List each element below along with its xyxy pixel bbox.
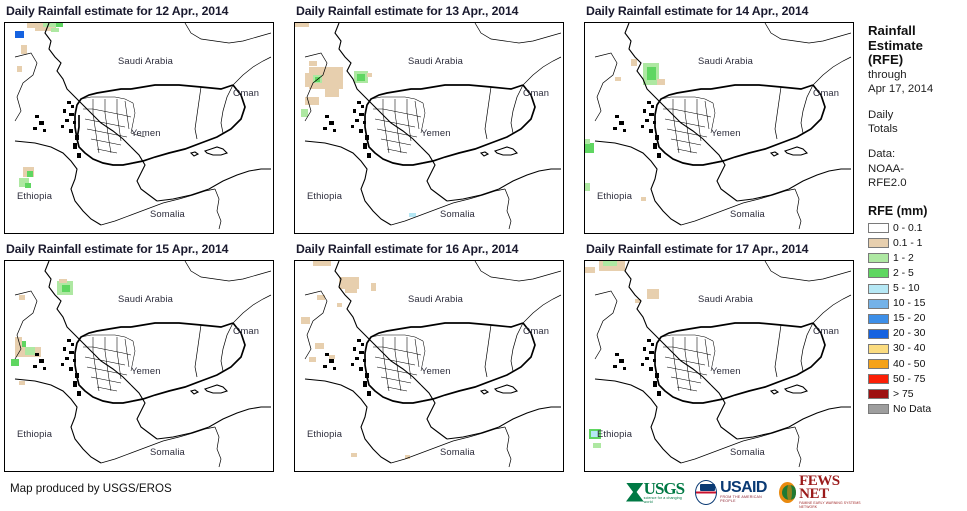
legend-swatch bbox=[868, 329, 889, 339]
fewsnet-logo[interactable]: FEWS NET FAMINE EARLY WARNING SYSTEMS NE… bbox=[779, 478, 864, 506]
sidebar-data-source-line-1: NOAA- bbox=[868, 162, 967, 176]
usgs-wordmark: USGS bbox=[644, 481, 687, 496]
country-label-yemen: Yemen bbox=[131, 365, 161, 376]
map-panel-13-apr: Daily Rainfall estimate for 13 Apr., 201… bbox=[290, 2, 568, 240]
legend-row: 2 - 5 bbox=[868, 266, 967, 281]
agency-logos: USGS science for a changing world USAID … bbox=[626, 477, 864, 507]
sidebar-title-line-2: Estimate bbox=[868, 39, 967, 54]
usgs-logo[interactable]: USGS science for a changing world bbox=[626, 478, 686, 506]
country-label-saudi-arabia: Saudi Arabia bbox=[698, 293, 753, 304]
fewsnet-globe-icon bbox=[779, 482, 796, 503]
legend-label: 0.1 - 1 bbox=[893, 238, 922, 249]
map-layers: Saudi Arabia Oman Yemen Ethiopia Somalia bbox=[295, 261, 563, 471]
usaid-wordmark: USAID bbox=[720, 481, 770, 495]
panel-title: Daily Rainfall estimate for 14 Apr., 201… bbox=[580, 2, 858, 22]
map-panel-15-apr: Daily Rainfall estimate for 15 Apr., 201… bbox=[0, 240, 278, 478]
usgs-mark-icon bbox=[626, 483, 644, 502]
country-label-ethiopia: Ethiopia bbox=[597, 190, 632, 201]
map-panel-14-apr: Daily Rainfall estimate for 14 Apr., 201… bbox=[580, 2, 858, 240]
legend-label: 10 - 15 bbox=[893, 298, 925, 309]
country-label-somalia: Somalia bbox=[730, 208, 765, 219]
legend-label: 2 - 5 bbox=[893, 268, 914, 279]
country-label-yemen: Yemen bbox=[711, 365, 741, 376]
usaid-logo[interactable]: USAID FROM THE AMERICAN PEOPLE bbox=[695, 478, 770, 506]
map-layers: Saudi Arabia Oman Yemen Ethiopia Somalia bbox=[585, 261, 853, 471]
country-label-oman: Oman bbox=[233, 87, 259, 98]
country-label-saudi-arabia: Saudi Arabia bbox=[118, 55, 173, 66]
country-label-ethiopia: Ethiopia bbox=[307, 428, 342, 439]
country-label-ethiopia: Ethiopia bbox=[17, 428, 52, 439]
country-label-oman: Oman bbox=[813, 87, 839, 98]
legend-row: 0.1 - 1 bbox=[868, 236, 967, 251]
country-label-somalia: Somalia bbox=[440, 208, 475, 219]
country-label-somalia: Somalia bbox=[440, 446, 475, 457]
panel-title: Daily Rainfall estimate for 15 Apr., 201… bbox=[0, 240, 278, 260]
legend-swatch bbox=[868, 268, 889, 278]
sidebar-title-line-1: Rainfall bbox=[868, 0, 967, 39]
country-label-yemen: Yemen bbox=[131, 127, 161, 138]
legend-swatch bbox=[868, 284, 889, 294]
map-canvas[interactable]: Saudi Arabia Oman Yemen Ethiopia Somalia bbox=[4, 260, 274, 472]
sidebar-through-label: through bbox=[868, 68, 967, 82]
sidebar-title-line-3: (RFE) bbox=[868, 53, 967, 68]
country-label-yemen: Yemen bbox=[421, 127, 451, 138]
legend-label: 5 - 10 bbox=[893, 283, 920, 294]
country-label-saudi-arabia: Saudi Arabia bbox=[698, 55, 753, 66]
country-label-yemen: Yemen bbox=[711, 127, 741, 138]
sidebar-totals-line-1: Daily bbox=[868, 108, 967, 122]
map-canvas[interactable]: Saudi Arabia Oman Yemen Ethiopia Somalia bbox=[584, 22, 854, 234]
legend-swatch bbox=[868, 253, 889, 263]
map-layers: Saudi Arabia Oman Yemen Ethiopia Somalia bbox=[295, 23, 563, 233]
legend-title: RFE (mm) bbox=[868, 204, 967, 218]
country-label-ethiopia: Ethiopia bbox=[17, 190, 52, 201]
panel-title: Daily Rainfall estimate for 17 Apr., 201… bbox=[580, 240, 858, 260]
country-label-somalia: Somalia bbox=[150, 208, 185, 219]
legend-row: > 75 bbox=[868, 387, 967, 402]
map-canvas[interactable]: Saudi Arabia Oman Yemen Ethiopia Somalia bbox=[294, 260, 564, 472]
legend: 0 - 0.10.1 - 11 - 22 - 55 - 1010 - 1515 … bbox=[868, 221, 967, 417]
panel-title: Daily Rainfall estimate for 13 Apr., 201… bbox=[290, 2, 568, 22]
legend-row: 20 - 30 bbox=[868, 326, 967, 341]
legend-label: 50 - 75 bbox=[893, 374, 925, 385]
map-canvas[interactable]: Saudi Arabia Oman Yemen Ethiopia Somalia bbox=[294, 22, 564, 234]
legend-row: 50 - 75 bbox=[868, 372, 967, 387]
country-label-somalia: Somalia bbox=[730, 446, 765, 457]
usaid-seal-icon bbox=[695, 480, 717, 505]
sidebar-totals-line-2: Totals bbox=[868, 122, 967, 136]
usaid-tagline: FROM THE AMERICAN PEOPLE bbox=[720, 495, 770, 503]
country-label-oman: Oman bbox=[523, 87, 549, 98]
legend-swatch bbox=[868, 404, 889, 414]
legend-row: 1 - 2 bbox=[868, 251, 967, 266]
country-label-oman: Oman bbox=[233, 325, 259, 336]
map-panel-17-apr: Daily Rainfall estimate for 17 Apr., 201… bbox=[580, 240, 858, 478]
map-panel-16-apr: Daily Rainfall estimate for 16 Apr., 201… bbox=[290, 240, 568, 478]
legend-label: 20 - 30 bbox=[893, 328, 925, 339]
country-label-oman: Oman bbox=[813, 325, 839, 336]
legend-swatch bbox=[868, 299, 889, 309]
legend-row: 40 - 50 bbox=[868, 356, 967, 371]
legend-swatch bbox=[868, 314, 889, 324]
fewsnet-wordmark: FEWS NET bbox=[799, 475, 864, 501]
country-label-somalia: Somalia bbox=[150, 446, 185, 457]
legend-row: 30 - 40 bbox=[868, 341, 967, 356]
fewsnet-tagline: FAMINE EARLY WARNING SYSTEMS NETWORK bbox=[799, 501, 864, 509]
country-label-ethiopia: Ethiopia bbox=[307, 190, 342, 201]
map-canvas[interactable]: Saudi Arabia Oman Yemen Ethiopia Somalia bbox=[4, 22, 274, 234]
map-panel-12-apr: Daily Rainfall estimate for 12 Apr., 201… bbox=[0, 2, 278, 240]
legend-label: 40 - 50 bbox=[893, 359, 925, 370]
map-layers: Saudi Arabia Oman Yemen Ethiopia Somalia bbox=[5, 261, 273, 471]
legend-swatch bbox=[868, 389, 889, 399]
legend-swatch bbox=[868, 359, 889, 369]
legend-row: 15 - 20 bbox=[868, 311, 967, 326]
country-label-saudi-arabia: Saudi Arabia bbox=[408, 293, 463, 304]
country-label-ethiopia: Ethiopia bbox=[597, 428, 632, 439]
map-layers: Saudi Arabia Oman Yemen Ethiopia Somalia bbox=[5, 23, 273, 233]
usgs-tagline: science for a changing world bbox=[644, 496, 687, 504]
sidebar-data-source-line-2: RFE2.0 bbox=[868, 176, 967, 190]
country-label-yemen: Yemen bbox=[421, 365, 451, 376]
country-label-saudi-arabia: Saudi Arabia bbox=[408, 55, 463, 66]
panel-title: Daily Rainfall estimate for 12 Apr., 201… bbox=[0, 2, 278, 22]
legend-label: 1 - 2 bbox=[893, 253, 914, 264]
map-credit: Map produced by USGS/EROS bbox=[10, 482, 172, 495]
sidebar: Rainfall Estimate (RFE) through Apr 17, … bbox=[868, 0, 967, 511]
legend-label: 0 - 0.1 bbox=[893, 223, 922, 234]
country-label-oman: Oman bbox=[523, 325, 549, 336]
legend-label: 15 - 20 bbox=[893, 313, 925, 324]
legend-label: 30 - 40 bbox=[893, 343, 925, 354]
sidebar-through-date: Apr 17, 2014 bbox=[868, 82, 967, 96]
legend-swatch bbox=[868, 238, 889, 248]
legend-row: 0 - 0.1 bbox=[868, 221, 967, 236]
panel-title: Daily Rainfall estimate for 16 Apr., 201… bbox=[290, 240, 568, 260]
legend-row: 10 - 15 bbox=[868, 296, 967, 311]
legend-swatch bbox=[868, 344, 889, 354]
legend-label: > 75 bbox=[893, 389, 914, 400]
legend-swatch bbox=[868, 223, 889, 233]
legend-label: No Data bbox=[893, 404, 931, 415]
legend-row: No Data bbox=[868, 402, 967, 417]
legend-swatch bbox=[868, 374, 889, 384]
legend-row: 5 - 10 bbox=[868, 281, 967, 296]
map-canvas[interactable]: Saudi Arabia Oman Yemen Ethiopia Somalia bbox=[584, 260, 854, 472]
country-label-saudi-arabia: Saudi Arabia bbox=[118, 293, 173, 304]
sidebar-data-label: Data: bbox=[868, 147, 967, 161]
map-layers: Saudi Arabia Oman Yemen Ethiopia Somalia bbox=[585, 23, 853, 233]
